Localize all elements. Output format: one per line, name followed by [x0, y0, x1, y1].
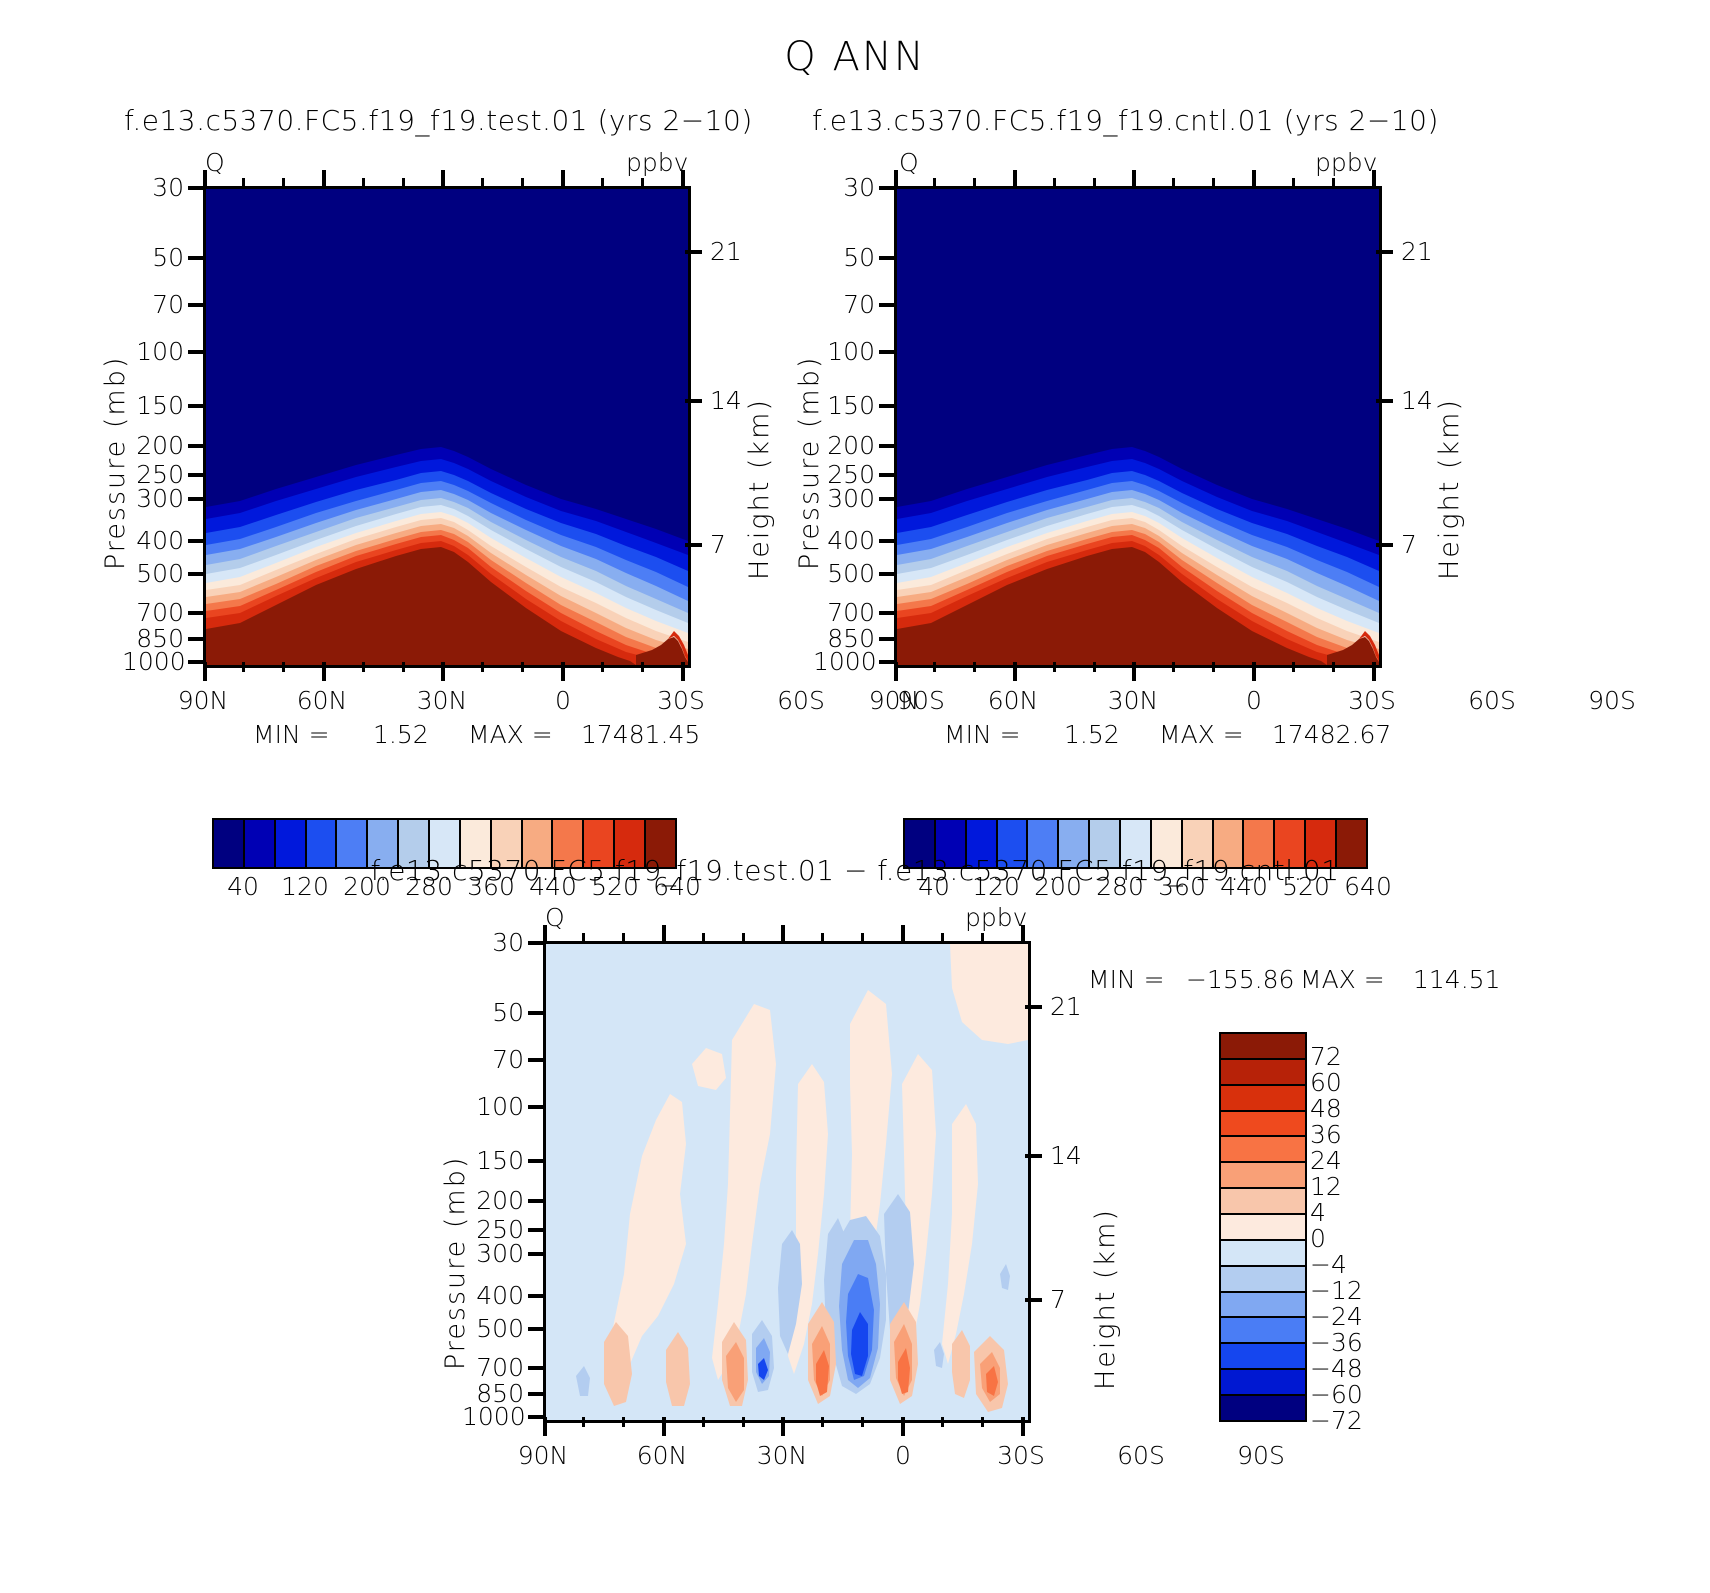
colorbar-cell	[1219, 1266, 1307, 1292]
ytick-200: 200	[136, 431, 184, 460]
diff-min-label: MIN =	[1088, 965, 1165, 994]
panel-test-field	[206, 189, 688, 665]
xtick-60S-diff: 60S	[1106, 1441, 1176, 1470]
colorbar-cell	[1219, 1240, 1307, 1266]
panel-test-plot[interactable]	[203, 186, 691, 668]
colorbar-tick-label: 4	[1310, 1198, 1420, 1227]
colorbar-tick-label: −4	[1310, 1250, 1420, 1279]
ytick-100-cntl: 100	[827, 337, 875, 366]
colorbar-cell	[1219, 1395, 1307, 1422]
xtick-30S-diff: 30S	[986, 1441, 1056, 1470]
ytick-700-diff: 700	[476, 1353, 524, 1382]
colorbar-tick-label: 0	[1310, 1224, 1420, 1253]
ytick-500: 500	[136, 559, 184, 588]
ytick-50-cntl: 50	[841, 243, 875, 272]
diff-field	[546, 944, 1028, 1420]
y2tick-21-diff: 21	[1050, 992, 1082, 1021]
colorbar-tick-label: −12	[1310, 1276, 1420, 1305]
xtick-0-diff: 0	[868, 1441, 938, 1470]
diff-units-label: ppbv	[965, 903, 1027, 932]
panel-cntl-max-value: 17482.67	[1272, 720, 1391, 749]
colorbar-difference-labels: 72604836241240−4−12−24−36−48−60−72	[1310, 1032, 1420, 1422]
ytick-150-diff: 150	[476, 1146, 524, 1175]
ytick-30-cntl: 30	[841, 173, 875, 202]
ytick-30-diff: 30	[490, 928, 524, 957]
ytick-150: 150	[136, 391, 184, 420]
ytick-50-diff: 50	[490, 998, 524, 1027]
page-title: Q ANN	[0, 34, 1710, 80]
colorbar-cell	[1219, 1292, 1307, 1318]
colorbar-cell	[1219, 1032, 1307, 1059]
panel-cntl-corner-label: Q	[899, 148, 919, 177]
diff-plot[interactable]	[543, 941, 1031, 1423]
ytick-400: 400	[136, 526, 184, 555]
ytick-1000-cntl: 1000	[813, 647, 875, 676]
colorbar-cell	[1219, 1188, 1307, 1214]
ytick-200-diff: 200	[476, 1186, 524, 1215]
xtick-0-cntl: 0	[1219, 686, 1289, 715]
ytick-500-cntl: 500	[827, 559, 875, 588]
y2tick-7-cntl: 7	[1401, 530, 1417, 559]
panel-test-max-label: MAX =	[468, 720, 553, 749]
y2tick-7-test: 7	[710, 530, 726, 559]
colorbar-difference[interactable]	[1219, 1032, 1307, 1422]
colorbar-cell	[1219, 1111, 1307, 1137]
panel-cntl-ylabel: Pressure (mb)	[794, 300, 825, 570]
colorbar-tick-label: −72	[1310, 1406, 1420, 1435]
ytick-50: 50	[150, 243, 184, 272]
y2tick-14-diff: 14	[1050, 1141, 1082, 1170]
xtick-60N-cntl: 60N	[978, 686, 1048, 715]
ytick-200-cntl: 200	[827, 431, 875, 460]
panel-test-units-label: ppbv	[626, 148, 688, 177]
colorbar-cell	[1219, 1136, 1307, 1162]
xtick-0-test: 0	[528, 686, 598, 715]
xtick-90N-cntl: 90N	[859, 686, 929, 715]
ytick-30: 30	[150, 173, 184, 202]
diff-max-value: 114.51	[1413, 965, 1500, 994]
colorbar-cell	[1219, 1317, 1307, 1343]
colorbar-tick-label: 48	[1310, 1094, 1420, 1123]
panel-test-min-label: MIN =	[253, 720, 330, 749]
panel-cntl-field	[897, 189, 1379, 665]
colorbar-tick-label: −60	[1310, 1380, 1420, 1409]
colorbar-cell	[1219, 1162, 1307, 1188]
panel-subtitle-cntl: f.e13.c5370.FC5.f19_f19.cntl.01 (yrs 2−1…	[812, 104, 1439, 137]
colorbar-tick-label: −24	[1310, 1302, 1420, 1331]
xtick-60S-cntl: 60S	[1457, 686, 1527, 715]
y2tick-7-diff: 7	[1050, 1285, 1066, 1314]
ytick-150-cntl: 150	[827, 391, 875, 420]
ytick-700: 700	[136, 598, 184, 627]
ytick-700-cntl: 700	[827, 598, 875, 627]
xtick-30S-cntl: 30S	[1337, 686, 1407, 715]
ytick-400-cntl: 400	[827, 526, 875, 555]
colorbar-tick-label: 36	[1310, 1120, 1420, 1149]
panel-cntl-max-label: MAX =	[1159, 720, 1244, 749]
diff-corner-label: Q	[545, 903, 565, 932]
y2tick-21-cntl: 21	[1401, 237, 1433, 266]
xtick-90S-diff: 90S	[1226, 1441, 1296, 1470]
ytick-300: 300	[136, 484, 184, 513]
colorbar-tick-label: −48	[1310, 1354, 1420, 1383]
ytick-500-diff: 500	[476, 1314, 524, 1343]
y2tick-21-test: 21	[710, 237, 742, 266]
panel-cntl-plot[interactable]	[894, 186, 1382, 668]
colorbar-cell	[1219, 1085, 1307, 1111]
colorbar-cell	[1219, 1059, 1307, 1085]
panel-cntl-y2label: Height (km)	[1434, 310, 1465, 580]
xtick-60S-test: 60S	[766, 686, 836, 715]
panel-cntl-min-value: 1.52	[1064, 720, 1120, 749]
y2tick-14-cntl: 14	[1401, 386, 1433, 415]
xtick-60N-test: 60N	[287, 686, 357, 715]
ytick-100-diff: 100	[476, 1092, 524, 1121]
diff-max-label: MAX =	[1300, 965, 1385, 994]
colorbar-cell	[1219, 1369, 1307, 1395]
panel-test-max-value: 17481.45	[581, 720, 700, 749]
ytick-300-cntl: 300	[827, 484, 875, 513]
colorbar-tick-label: 12	[1310, 1172, 1420, 1201]
xtick-30N-diff: 30N	[747, 1441, 817, 1470]
panel-cntl-units-label: ppbv	[1315, 148, 1377, 177]
diff-y2label: Height (km)	[1090, 1120, 1121, 1390]
colorbar-tick-label: −36	[1310, 1328, 1420, 1357]
panel-test-min-value: 1.52	[373, 720, 429, 749]
xtick-90N-diff: 90N	[508, 1441, 578, 1470]
ytick-1000: 1000	[122, 647, 184, 676]
xtick-30S-test: 30S	[646, 686, 716, 715]
ytick-1000-diff: 1000	[462, 1402, 524, 1431]
panel-test-y2label: Height (km)	[744, 310, 775, 580]
panel-test-corner-label: Q	[205, 148, 225, 177]
diff-ylabel: Pressure (mb)	[440, 1100, 471, 1370]
panel-subtitle-test: f.e13.c5370.FC5.f19_f19.test.01 (yrs 2−1…	[124, 104, 753, 137]
xtick-30N-cntl: 30N	[1098, 686, 1168, 715]
xtick-90S-cntl: 90S	[1577, 686, 1647, 715]
colorbar-tick-label: 24	[1310, 1146, 1420, 1175]
ytick-300-diff: 300	[476, 1239, 524, 1268]
ytick-70-diff: 70	[490, 1045, 524, 1074]
y2tick-14-test: 14	[710, 386, 742, 415]
panel-test-ylabel: Pressure (mb)	[100, 300, 131, 570]
ytick-400-diff: 400	[476, 1281, 524, 1310]
ytick-70: 70	[150, 290, 184, 319]
diff-panel-title: f.e13.c5370.FC5.f19_f19.test.01 − f.e13.…	[0, 854, 1710, 887]
colorbar-cell	[1219, 1214, 1307, 1240]
xtick-60N-diff: 60N	[627, 1441, 697, 1470]
colorbar-cell	[1219, 1343, 1307, 1369]
diff-min-value: −155.86	[1186, 965, 1294, 994]
ytick-100: 100	[136, 337, 184, 366]
xtick-30N-test: 30N	[407, 686, 477, 715]
panel-cntl-min-label: MIN =	[944, 720, 1021, 749]
colorbar-tick-label: 72	[1310, 1042, 1420, 1071]
ytick-70-cntl: 70	[841, 290, 875, 319]
xtick-90N-test: 90N	[168, 686, 238, 715]
colorbar-tick-label: 60	[1310, 1068, 1420, 1097]
